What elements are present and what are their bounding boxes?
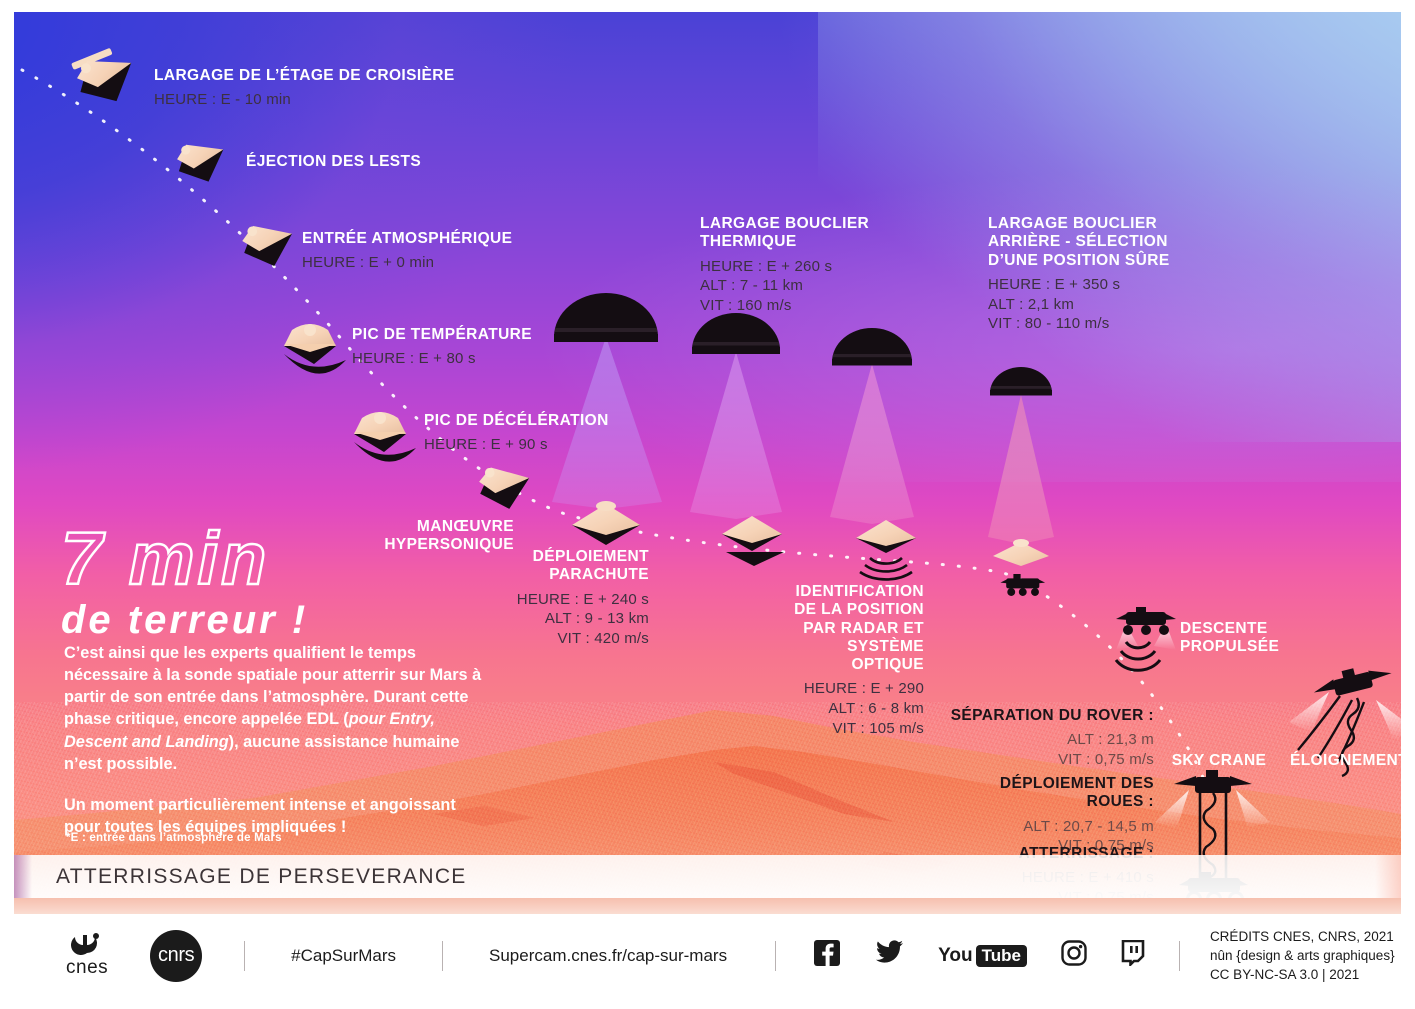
stage-title: LARGAGE BOUCLIER ARRIÈRE - SÉLECTION D’U…: [988, 215, 1203, 270]
stage-title: ÉJECTION DES LESTS: [246, 153, 476, 171]
stage-meta: HEURE : E + 80 s: [352, 349, 602, 369]
stage-deploiement-parachute: DÉPLOIEMENT PARACHUTE HEURE : E + 240 s …: [494, 548, 649, 649]
poster-root: LARGAGE DE L’ÉTAGE DE CROISIÈRE HEURE : …: [0, 0, 1415, 1009]
stage-meta: HEURE : E + 290 ALT : 6 - 8 km VIT : 105…: [774, 679, 924, 738]
website-url[interactable]: Supercam.cnes.fr/cap-sur-mars: [489, 946, 727, 966]
cnes-wordmark: cnes: [66, 957, 108, 979]
stage-descente-propulsee: DESCENTE PROPULSÉE: [1180, 620, 1300, 657]
youtube-you-text: You: [938, 945, 972, 967]
instagram-icon[interactable]: [1061, 940, 1087, 971]
cnes-mark-icon: [69, 933, 105, 959]
stage-title: PIC DE DÉCÉLÉRATION: [424, 412, 674, 430]
cnes-logo[interactable]: cnes: [66, 933, 108, 979]
cnrs-logo[interactable]: cnrs: [150, 930, 202, 982]
stage-title: ENTRÉE ATMOSPHÉRIQUE: [302, 230, 562, 248]
stage-meta: HEURE : E + 350 s ALT : 2,1 km VIT : 80 …: [988, 275, 1203, 334]
stage-title: LARGAGE DE L’ÉTAGE DE CROISIÈRE: [154, 67, 484, 85]
stage-title: SKY CRANE: [1154, 752, 1284, 770]
credits-line-1: CRÉDITS CNES, CNRS, 2021: [1210, 927, 1395, 946]
body-copy: C’est ainsi que les experts qualifient l…: [64, 642, 494, 838]
stage-meta: HEURE : E + 240 s ALT : 9 - 13 km VIT : …: [494, 590, 649, 649]
cnrs-wordmark: cnrs: [158, 944, 194, 967]
landing-stat-label: DÉPLOIEMENT DES ROUES :: [944, 775, 1154, 812]
band-title: ATTERRISSAGE DE PERSEVERANCE: [56, 865, 467, 889]
stage-meta: HEURE : E + 260 s ALT : 7 - 11 km VIT : …: [700, 257, 900, 316]
headline-de-terreur: de terreur !: [61, 598, 491, 643]
stage-sky-crane: SKY CRANE: [1154, 752, 1284, 770]
landing-stat-deploiement-roues: DÉPLOIEMENT DES ROUES : ALT : 20,7 - 14,…: [944, 775, 1154, 856]
credits-line-3: CC BY-NC-SA 3.0 | 2021: [1210, 965, 1395, 984]
stage-meta: HEURE : E - 10 min: [154, 90, 484, 110]
stage-largage-etage-croisiere: LARGAGE DE L’ÉTAGE DE CROISIÈRE HEURE : …: [154, 67, 484, 110]
twitter-icon[interactable]: [874, 940, 904, 971]
poster-canvas: LARGAGE DE L’ÉTAGE DE CROISIÈRE HEURE : …: [14, 12, 1401, 997]
title-band: ATTERRISSAGE DE PERSEVERANCE: [14, 855, 1401, 898]
stage-title: ÉLOIGNEMENT: [1284, 752, 1401, 770]
stage-title: PIC DE TEMPÉRATURE: [352, 326, 602, 344]
footer-divider-2: [442, 941, 443, 971]
footer-divider-3: [775, 941, 776, 971]
footer-bar: cnes cnrs #CapSurMars Supercam.cnes.fr/c…: [14, 914, 1401, 997]
hashtag-capsurmars[interactable]: #CapSurMars: [291, 946, 396, 966]
landing-stat-values: ALT : 21,3 m VIT : 0,75 m/s: [944, 730, 1154, 770]
facebook-icon[interactable]: [814, 940, 840, 971]
footnote: *E : entrée dans l’atmosphère de Mars: [66, 832, 282, 844]
stage-ejection-lests: ÉJECTION DES LESTS: [246, 153, 476, 171]
stage-largage-bouclier-arriere: LARGAGE BOUCLIER ARRIÈRE - SÉLECTION D’U…: [988, 215, 1203, 334]
band-edge-left: [14, 855, 32, 898]
stage-entree-atmospherique: ENTRÉE ATMOSPHÉRIQUE HEURE : E + 0 min: [302, 230, 562, 273]
stage-eloignement: ÉLOIGNEMENT: [1284, 752, 1401, 770]
stage-meta: HEURE : E + 0 min: [302, 253, 562, 273]
youtube-icon[interactable]: You Tube: [938, 945, 1027, 967]
credits-block: CRÉDITS CNES, CNRS, 2021 nûn {design & a…: [1210, 927, 1395, 984]
youtube-tube-text: Tube: [976, 945, 1027, 967]
credits-line-2: nûn {design & arts graphiques}: [1210, 946, 1395, 965]
stage-title: LARGAGE BOUCLIER THERMIQUE: [700, 215, 900, 252]
body-paragraph-1: C’est ainsi que les experts qualifient l…: [64, 642, 494, 775]
stage-largage-bouclier-thermique: LARGAGE BOUCLIER THERMIQUE HEURE : E + 2…: [700, 215, 900, 316]
footer-divider-4: [1179, 941, 1180, 971]
landing-stat-separation-rover: SÉPARATION DU ROVER : ALT : 21,3 m VIT :…: [944, 707, 1154, 770]
band-edge-right: [1375, 855, 1401, 898]
stage-title: DESCENTE PROPULSÉE: [1180, 620, 1300, 657]
stage-pic-temperature: PIC DE TEMPÉRATURE HEURE : E + 80 s: [352, 326, 602, 369]
landing-stat-label: SÉPARATION DU ROVER :: [944, 707, 1154, 725]
stage-title: DÉPLOIEMENT PARACHUTE: [494, 548, 649, 585]
headline-7min: 7 min: [61, 524, 491, 594]
stage-title: IDENTIFICATION DE LA POSITION PAR RADAR …: [774, 583, 924, 674]
footer-divider-1: [244, 941, 245, 971]
stage-meta: HEURE : E + 90 s: [424, 435, 674, 455]
stage-identification-position: IDENTIFICATION DE LA POSITION PAR RADAR …: [774, 583, 924, 739]
headline-block: 7 min de terreur !: [61, 524, 491, 643]
twitch-icon[interactable]: [1121, 940, 1145, 971]
stage-pic-deceleration: PIC DE DÉCÉLÉRATION HEURE : E + 90 s: [424, 412, 674, 455]
